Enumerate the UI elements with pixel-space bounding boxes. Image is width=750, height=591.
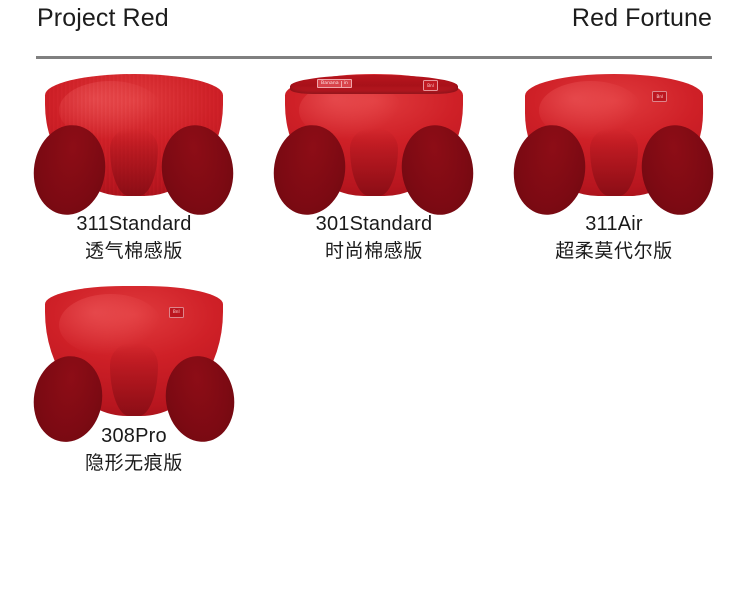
product-card[interactable]: 311Standard 透气棉感版 — [14, 68, 254, 280]
logo-tag-icon: Bnl — [652, 91, 667, 102]
brand-label-word: Banana — [321, 82, 339, 87]
brand-label-icon: Banana in — [317, 79, 352, 88]
product-card[interactable]: Bnl 311Air 超柔莫代尔版 — [494, 68, 734, 280]
product-caption: 311Standard 透气棉感版 — [76, 210, 191, 266]
page-title-right: Red Fortune — [572, 4, 712, 33]
product-image-311air[interactable]: Bnl — [499, 68, 729, 208]
brand-label-suffix: in — [344, 82, 348, 87]
product-variant-name: 超柔莫代尔版 — [555, 239, 673, 266]
product-variant-name: 隐形无痕版 — [85, 451, 183, 478]
product-model-name: 311Standard — [76, 210, 191, 238]
garment-gusset — [590, 128, 638, 196]
product-grid: 311Standard 透气棉感版 Banana in — [14, 68, 736, 492]
product-card[interactable]: Banana in Bnl 301Standard 时尚棉感版 — [254, 68, 494, 280]
product-model-name: 301Standard — [316, 210, 433, 238]
product-model-name: 311Air — [555, 210, 673, 238]
logo-tag-text: Bnl — [657, 95, 664, 99]
header-divider — [36, 56, 712, 59]
product-caption: 311Air 超柔莫代尔版 — [555, 210, 673, 266]
logo-tag-icon: Bnl — [169, 307, 184, 318]
underwear-illustration — [45, 74, 223, 196]
product-variant-name: 透气棉感版 — [76, 239, 191, 266]
garment-gusset — [110, 343, 158, 416]
logo-tag-text: Bnl — [427, 84, 434, 88]
product-caption: 308Pro 隐形无痕版 — [85, 422, 183, 478]
garment-gusset — [350, 128, 398, 196]
product-image-308pro[interactable]: Bnl — [19, 280, 249, 420]
product-image-311standard[interactable] — [19, 68, 249, 208]
underwear-illustration: Bnl — [45, 286, 223, 416]
underwear-illustration: Banana in Bnl — [285, 74, 463, 196]
logo-tag-icon: Bnl — [423, 80, 438, 91]
page-header: Project Red Red Fortune — [0, 0, 750, 58]
product-image-301standard[interactable]: Banana in Bnl — [259, 68, 489, 208]
logo-tag-text: Bnl — [173, 310, 180, 314]
underwear-illustration: Bnl — [525, 74, 703, 196]
product-variant-name: 时尚棉感版 — [316, 239, 433, 266]
product-model-name: 308Pro — [85, 422, 183, 450]
product-card[interactable]: Bnl 308Pro 隐形无痕版 — [14, 280, 254, 492]
product-catalog-page: Project Red Red Fortune 311Standard 透气棉感… — [0, 0, 750, 591]
product-caption: 301Standard 时尚棉感版 — [316, 210, 433, 266]
page-title-left: Project Red — [37, 4, 169, 33]
brand-label-separator — [341, 81, 342, 87]
